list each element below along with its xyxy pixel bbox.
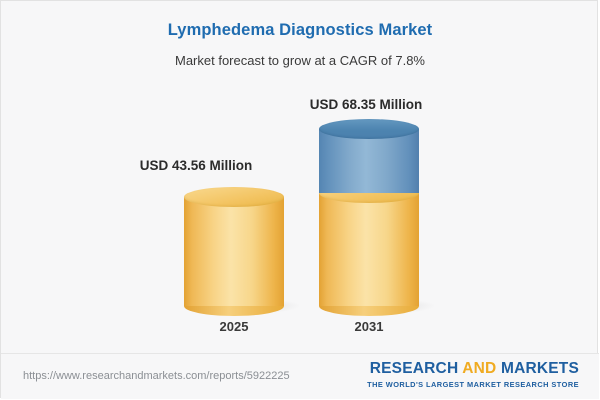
logo-wordmark: RESEARCH AND MARKETS bbox=[367, 360, 579, 378]
logo-word-markets: MARKETS bbox=[496, 360, 579, 377]
logo-word-and: AND bbox=[462, 360, 496, 377]
logo-tagline: THE WORLD'S LARGEST MARKET RESEARCH STOR… bbox=[367, 380, 579, 389]
cylinder-top-2025 bbox=[184, 187, 284, 207]
source-url-link[interactable]: https://www.researchandmarkets.com/repor… bbox=[23, 370, 290, 382]
chart-plot-area: USD 43.56 Million 2025 USD 68.35 Million bbox=[1, 1, 599, 353]
bar-value-label-2025: USD 43.56 Million bbox=[106, 158, 286, 173]
research-and-markets-logo[interactable]: RESEARCH AND MARKETS THE WORLD'S LARGEST… bbox=[367, 360, 579, 389]
bar-value-label-2031: USD 68.35 Million bbox=[276, 97, 456, 112]
chart-canvas: Lymphedema Diagnostics Market Market for… bbox=[0, 0, 598, 398]
footer: https://www.researchandmarkets.com/repor… bbox=[1, 354, 599, 399]
bar-category-label-2031: 2031 bbox=[309, 319, 429, 334]
cylinder-body-2025 bbox=[184, 197, 284, 306]
cylinder-body-yellow-2031 bbox=[319, 193, 419, 306]
logo-word-research: RESEARCH bbox=[370, 360, 463, 377]
bar-category-label-2025: 2025 bbox=[174, 319, 294, 334]
cylinder-top-2031 bbox=[319, 119, 419, 139]
